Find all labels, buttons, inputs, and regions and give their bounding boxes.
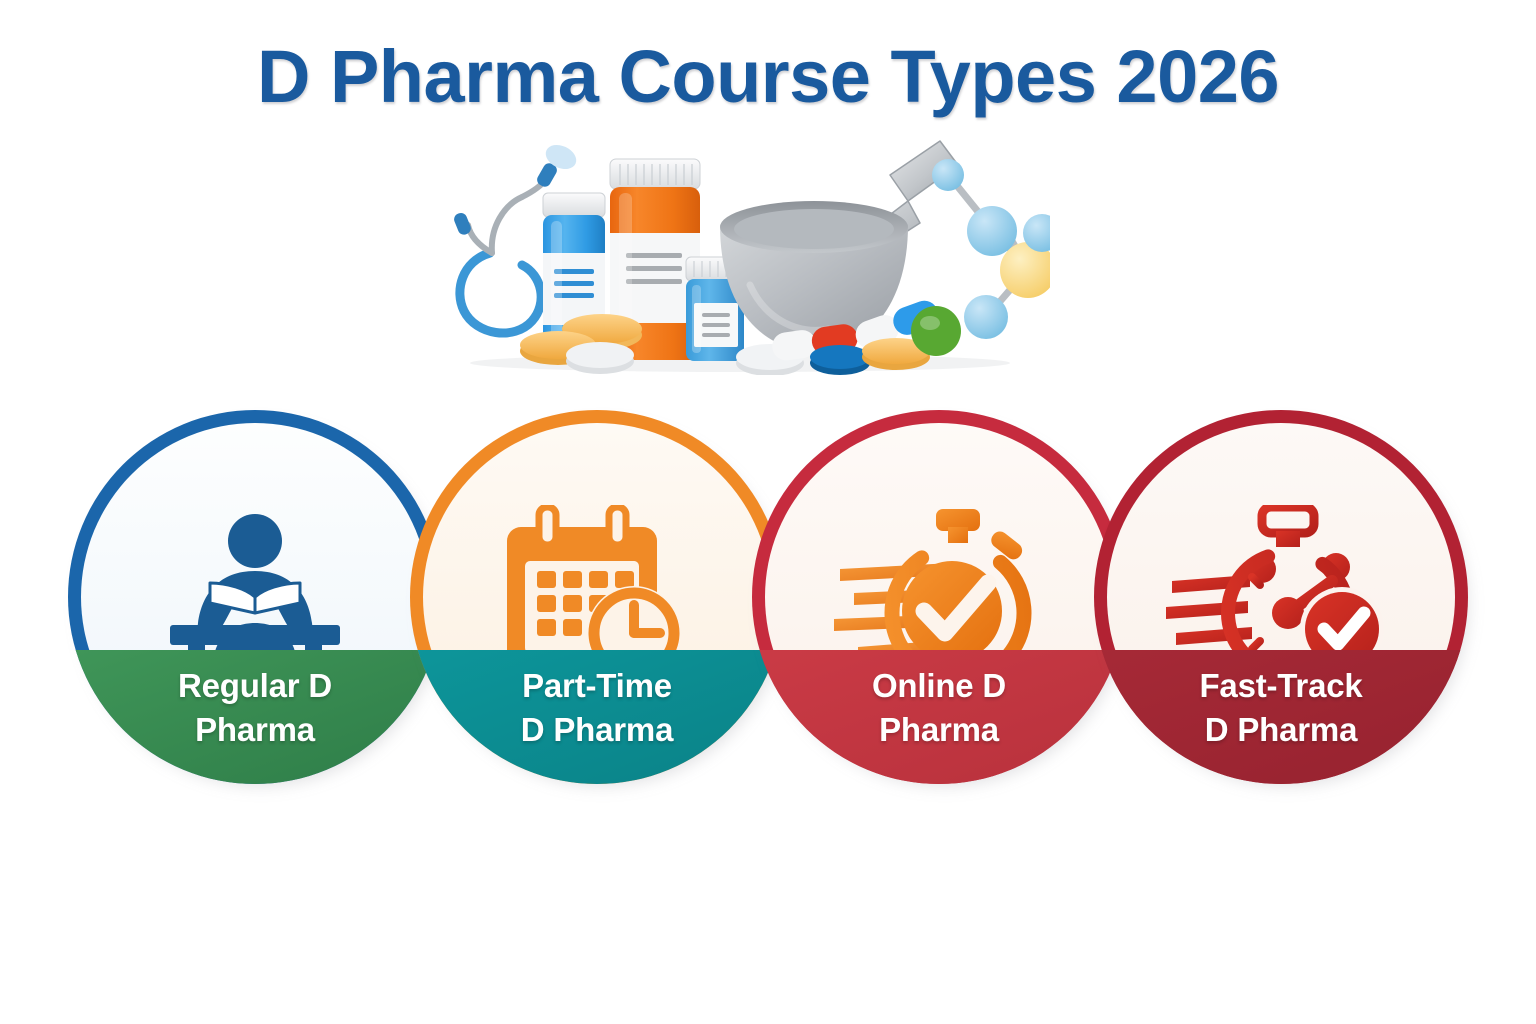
course-card-regular-d-pharma[interactable]: Regular D Pharma <box>68 410 442 784</box>
course-type-circles: Regular D Pharma <box>0 400 1536 820</box>
course-card-part-time-d-pharma[interactable]: Part-Time D Pharma <box>410 410 784 784</box>
course-card-fast-track-d-pharma[interactable]: Fast-Track D Pharma <box>1094 410 1468 784</box>
page-title: D Pharma Course Types 2026 <box>0 34 1536 119</box>
infographic-canvas: D Pharma Course Types 2026 <box>0 0 1536 1024</box>
pharmacy-supplies-illustration <box>430 135 1050 375</box>
course-card-online-d-pharma[interactable]: Online D Pharma <box>752 410 1126 784</box>
